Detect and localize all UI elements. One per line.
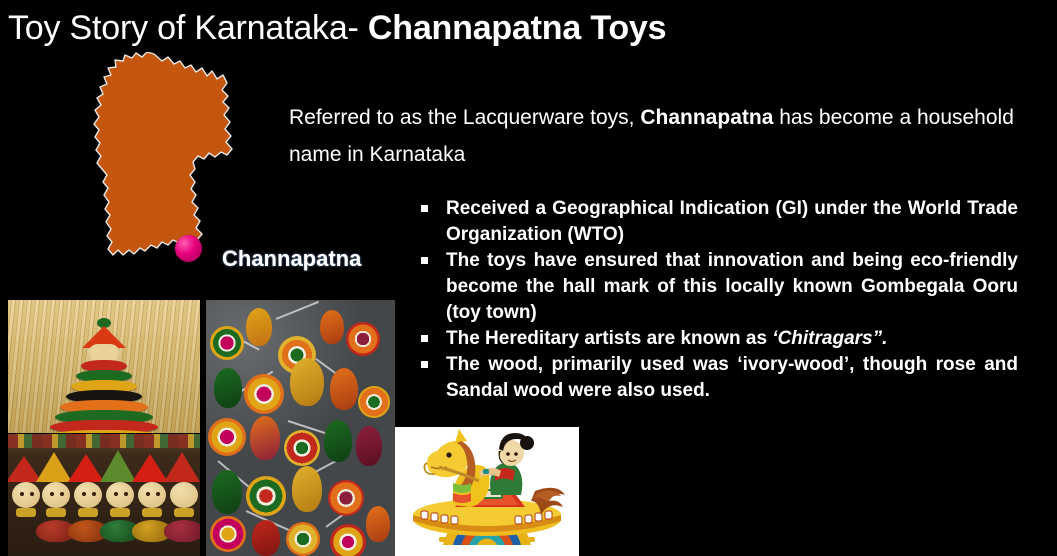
intro-text-before: Referred to as the Lacquerware toys, [289,106,640,129]
photo-stacking-rings-toy [8,300,200,433]
photo-spinning-tops-pile [206,300,395,556]
square-bullet-icon [421,335,428,342]
intro-text-bold: Channapatna [640,106,773,129]
list-item-text: The Hereditary artists are known as [446,328,772,349]
list-item: The Hereditary artists are known as ‘Chi… [418,326,1018,352]
square-bullet-icon [421,361,428,368]
map-marker-label: Channapatna [222,246,361,272]
bullet-list: Received a Geographical Indication (GI) … [418,196,1018,404]
square-bullet-icon [421,257,428,264]
list-item: The toys have ensured that innovation an… [418,248,1018,326]
list-item-text: The toys have ensured that innovation an… [446,250,1018,323]
list-item-italic-term: ‘Chitragars”. [772,328,887,349]
channapatna-map-marker [175,235,202,262]
photo-rocking-horse-toy [395,427,579,556]
intro-paragraph: Referred to as the Lacquerware toys, Cha… [289,99,1019,173]
slide-canvas: Toy Story of Karnataka- Channapatna Toys… [0,0,1057,556]
list-item-text: The wood, primarily used was ‘ivory-wood… [446,354,1018,401]
rocking-horse-icon [395,427,579,556]
page-title-light: Toy Story of Karnataka- [8,9,368,47]
list-item: Received a Geographical Indication (GI) … [418,196,1018,248]
photo-wooden-dolls-row [8,434,200,556]
list-item: The wood, primarily used was ‘ivory-wood… [418,352,1018,404]
page-title: Toy Story of Karnataka- Channapatna Toys [8,6,1048,54]
karnataka-map [92,52,277,277]
list-item-text: Received a Geographical Indication (GI) … [446,198,1018,245]
square-bullet-icon [421,205,428,212]
page-title-bold: Channapatna Toys [368,9,666,47]
